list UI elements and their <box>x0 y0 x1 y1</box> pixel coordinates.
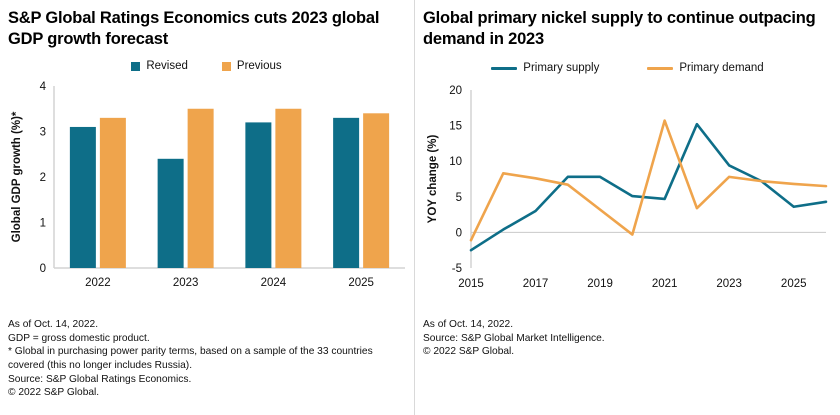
legend-label-revised: Revised <box>146 60 188 72</box>
legend-line-primary-demand <box>647 67 673 70</box>
left-footnote-1: GDP = gross domestic product. <box>8 332 408 346</box>
line-y-tick-label: 0 <box>456 228 462 240</box>
bar-revised-2022 <box>70 127 96 268</box>
right-chart-title: Global primary nickel supply to continue… <box>423 8 832 50</box>
bar-x-tick-label-2024: 2024 <box>261 277 287 289</box>
bar-y-axis-title: Global GDP growth (%)* <box>11 111 23 242</box>
line-x-tick-label-2019: 2019 <box>587 278 613 290</box>
legend-item-revised[interactable]: Revised <box>131 60 188 72</box>
right-chart-footnotes: As of Oct. 14, 2022. Source: S&P Global … <box>423 318 823 359</box>
legend-label-previous: Previous <box>237 60 282 72</box>
line-y-tick-label: 15 <box>449 121 462 133</box>
right-chart-legend: Primary supply Primary demand <box>423 60 832 76</box>
bar-x-tick-label-2022: 2022 <box>85 277 111 289</box>
right-footnote-2: © 2022 S&P Global. <box>423 345 823 359</box>
left-footnote-0: As of Oct. 14, 2022. <box>8 318 408 332</box>
legend-item-previous[interactable]: Previous <box>222 60 282 72</box>
line-x-tick-label-2025: 2025 <box>781 278 807 290</box>
bar-previous-2023 <box>188 109 214 268</box>
legend-label-primary-demand: Primary demand <box>679 62 763 74</box>
line-series-primary-demand <box>471 121 826 241</box>
legend-item-primary-supply[interactable]: Primary supply <box>491 62 599 74</box>
bar-previous-2024 <box>275 109 301 268</box>
line-chart-svg: -505101520YOY change (%)2015201720192021… <box>423 80 832 296</box>
right-footnote-0: As of Oct. 14, 2022. <box>423 318 823 332</box>
line-chart-plot-area: -505101520YOY change (%)2015201720192021… <box>423 80 832 296</box>
bar-revised-2023 <box>158 159 184 268</box>
right-footnote-1: Source: S&P Global Market Intelligence. <box>423 332 823 346</box>
bar-y-tick-label: 2 <box>40 172 46 184</box>
bar-previous-2025 <box>363 114 389 269</box>
legend-label-primary-supply: Primary supply <box>523 62 599 74</box>
right-chart-panel: Global primary nickel supply to continue… <box>415 0 840 415</box>
line-y-axis-title: YOY change (%) <box>427 135 439 224</box>
line-x-tick-label-2021: 2021 <box>652 278 678 290</box>
legend-line-primary-supply <box>491 67 517 70</box>
left-chart-footnotes: As of Oct. 14, 2022. GDP = gross domesti… <box>8 318 408 400</box>
left-footnote-4: © 2022 S&P Global. <box>8 386 408 400</box>
left-footnote-2: * Global in purchasing power parity term… <box>8 345 408 372</box>
infographic-page: S&P Global Ratings Economics cuts 2023 g… <box>0 0 840 415</box>
legend-swatch-revised <box>131 62 140 71</box>
left-chart-title: S&P Global Ratings Economics cuts 2023 g… <box>8 8 405 50</box>
line-x-tick-label-2023: 2023 <box>716 278 742 290</box>
legend-item-primary-demand[interactable]: Primary demand <box>647 62 763 74</box>
bar-x-tick-label-2025: 2025 <box>348 277 374 289</box>
left-chart-panel: S&P Global Ratings Economics cuts 2023 g… <box>0 0 415 415</box>
left-chart-legend: Revised Previous <box>8 58 405 74</box>
bar-x-tick-label-2023: 2023 <box>173 277 199 289</box>
line-x-tick-label-2015: 2015 <box>458 278 484 290</box>
bar-y-tick-label: 1 <box>40 218 46 230</box>
left-footnote-3: Source: S&P Global Ratings Economics. <box>8 373 408 387</box>
bar-revised-2025 <box>333 118 359 268</box>
bar-y-tick-label: 4 <box>40 81 47 93</box>
line-series-primary-supply <box>471 124 826 250</box>
line-y-tick-label: 5 <box>456 192 462 204</box>
bar-y-tick-label: 3 <box>40 127 46 139</box>
bar-chart-plot-area: 01234Global GDP growth (%)*2022202320242… <box>8 78 405 296</box>
bar-revised-2024 <box>245 123 271 269</box>
line-y-tick-label: 20 <box>449 85 462 97</box>
line-y-tick-label: -5 <box>452 263 462 275</box>
bar-chart-svg: 01234Global GDP growth (%)*2022202320242… <box>8 78 413 296</box>
line-x-tick-label-2017: 2017 <box>523 278 549 290</box>
bar-previous-2022 <box>100 118 126 268</box>
legend-swatch-previous <box>222 62 231 71</box>
line-y-tick-label: 10 <box>449 156 462 168</box>
bar-y-tick-label: 0 <box>40 263 46 275</box>
